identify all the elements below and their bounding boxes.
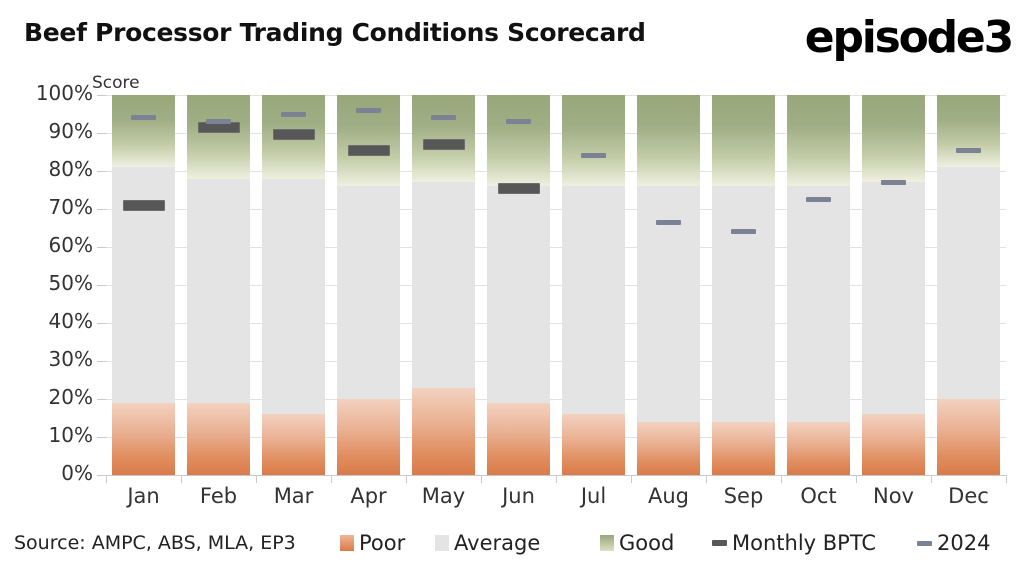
bar-group[interactable] (712, 95, 775, 475)
marker-2024 (131, 115, 156, 120)
x-tick-mark (781, 475, 782, 483)
bar-segment-poor (937, 399, 1000, 475)
x-tick-mark (931, 475, 932, 483)
bar-segment-poor (412, 388, 475, 475)
bar-group[interactable] (337, 95, 400, 475)
legend-label: Average (454, 531, 540, 555)
legend-item-monthly-bptc[interactable]: Monthly BPTC (712, 530, 876, 556)
marker-monthly-bptc (123, 200, 165, 211)
y-tick-mark (97, 133, 106, 134)
marker-2024 (281, 112, 306, 117)
bar-segment-poor (712, 422, 775, 475)
x-tick-label-sep: Sep (706, 484, 781, 508)
marker-2024 (881, 180, 906, 185)
y-tick-label: 70% (15, 195, 93, 219)
x-tick-mark (856, 475, 857, 483)
page-title: Beef Processor Trading Conditions Scorec… (24, 18, 646, 47)
y-axis-title: Score (92, 73, 140, 93)
x-tick-label-aug: Aug (631, 484, 706, 508)
marker-monthly-bptc (348, 145, 390, 156)
y-tick-label: 80% (15, 157, 93, 181)
bar-group[interactable] (487, 95, 550, 475)
bar-segment-poor (787, 422, 850, 475)
episode3-logo: episode3 (805, 12, 1012, 63)
bar-segment-good (562, 95, 625, 186)
x-tick-label-oct: Oct (781, 484, 856, 508)
marker-2024 (581, 153, 606, 158)
marker-2024 (806, 197, 831, 202)
y-tick-label: 40% (15, 309, 93, 333)
marker-monthly-bptc (423, 139, 465, 150)
bar-segment-average (262, 179, 325, 415)
bar-group[interactable] (187, 95, 250, 475)
bar-group[interactable] (562, 95, 625, 475)
legend-swatch-icon (600, 535, 614, 551)
bar-segment-poor (337, 399, 400, 475)
bar-group[interactable] (112, 95, 175, 475)
x-tick-label-feb: Feb (181, 484, 256, 508)
bar-segment-poor (112, 403, 175, 475)
y-tick-label: 60% (15, 233, 93, 257)
x-tick-label-may: May (406, 484, 481, 508)
x-tick-mark (256, 475, 257, 483)
bar-segment-average (712, 186, 775, 422)
bar-segment-poor (187, 403, 250, 475)
bar-segment-average (937, 167, 1000, 399)
y-tick-label: 100% (15, 81, 93, 105)
x-tick-mark (631, 475, 632, 483)
x-tick-mark (556, 475, 557, 483)
y-tick-mark (97, 285, 106, 286)
bar-group[interactable] (412, 95, 475, 475)
bar-group[interactable] (937, 95, 1000, 475)
y-tick-mark (97, 475, 106, 476)
marker-2024 (206, 119, 231, 124)
legend-dash-icon (917, 541, 932, 546)
y-tick-mark (97, 323, 106, 324)
legend-item-2024[interactable]: 2024 (917, 530, 990, 556)
y-tick-mark (97, 95, 106, 96)
bar-segment-poor (562, 414, 625, 475)
chart-plot-area: Score 0%10%20%30%40%50%60%70%80%90%100%J… (0, 70, 1024, 520)
legend-swatch-icon (340, 535, 354, 551)
x-tick-mark (331, 475, 332, 483)
legend-dash-icon (712, 540, 727, 546)
bar-group[interactable] (787, 95, 850, 475)
x-tick-label-jan: Jan (106, 484, 181, 508)
legend-item-good[interactable]: Good (600, 530, 674, 556)
y-tick-mark (97, 437, 106, 438)
y-tick-mark (97, 361, 106, 362)
x-tick-mark (706, 475, 707, 483)
marker-monthly-bptc (273, 129, 315, 140)
y-tick-label: 10% (15, 423, 93, 447)
legend-label: 2024 (937, 531, 990, 555)
marker-2024 (956, 148, 981, 153)
bar-segment-good (487, 95, 550, 186)
bar-segment-good (187, 95, 250, 179)
x-tick-label-jul: Jul (556, 484, 631, 508)
plot-canvas (106, 95, 1006, 475)
bar-group[interactable] (862, 95, 925, 475)
bar-group[interactable] (637, 95, 700, 475)
x-tick-label-dec: Dec (931, 484, 1006, 508)
y-tick-mark (97, 209, 106, 210)
marker-2024 (731, 229, 756, 234)
x-tick-mark (181, 475, 182, 483)
bar-segment-average (787, 186, 850, 422)
bar-segment-average (487, 186, 550, 403)
bar-segment-average (862, 182, 925, 414)
bar-segment-average (337, 186, 400, 399)
bar-segment-poor (487, 403, 550, 475)
bar-group[interactable] (262, 95, 325, 475)
y-tick-label: 90% (15, 119, 93, 143)
bar-segment-poor (637, 422, 700, 475)
bar-segment-good (712, 95, 775, 186)
legend-label: Good (619, 531, 674, 555)
legend-label: Monthly BPTC (732, 531, 876, 555)
bar-segment-average (562, 186, 625, 414)
bar-segment-average (187, 179, 250, 403)
y-tick-label: 30% (15, 347, 93, 371)
bar-segment-poor (862, 414, 925, 475)
x-tick-mark (481, 475, 482, 483)
y-tick-label: 20% (15, 385, 93, 409)
marker-2024 (431, 115, 456, 120)
x-tick-label-nov: Nov (856, 484, 931, 508)
x-tick-label-apr: Apr (331, 484, 406, 508)
legend-label: Poor (359, 531, 405, 555)
y-tick-mark (97, 247, 106, 248)
y-tick-mark (97, 399, 106, 400)
y-tick-label: 50% (15, 271, 93, 295)
bar-segment-poor (262, 414, 325, 475)
x-tick-label-mar: Mar (256, 484, 331, 508)
marker-2024 (506, 119, 531, 124)
x-tick-mark (106, 475, 107, 483)
bar-segment-average (412, 182, 475, 387)
bar-segment-good (112, 95, 175, 167)
marker-monthly-bptc (498, 183, 540, 194)
y-tick-label: 0% (15, 461, 93, 485)
chart-header: Beef Processor Trading Conditions Scorec… (0, 0, 1024, 78)
bar-segment-good (787, 95, 850, 186)
bar-segment-good (862, 95, 925, 182)
y-tick-mark (97, 171, 106, 172)
x-tick-label-jun: Jun (481, 484, 556, 508)
legend-item-poor[interactable]: Poor (340, 530, 405, 556)
chart-footer: Source: AMPC, ABS, MLA, EP3 PoorAverageG… (0, 528, 1024, 568)
x-tick-mark (1006, 475, 1007, 483)
marker-2024 (356, 108, 381, 113)
x-tick-mark (406, 475, 407, 483)
bar-segment-good (937, 95, 1000, 167)
source-note: Source: AMPC, ABS, MLA, EP3 (14, 532, 296, 554)
bar-segment-good (637, 95, 700, 186)
marker-2024 (656, 220, 681, 225)
legend-item-average[interactable]: Average (435, 530, 540, 556)
legend-swatch-icon (435, 535, 449, 551)
